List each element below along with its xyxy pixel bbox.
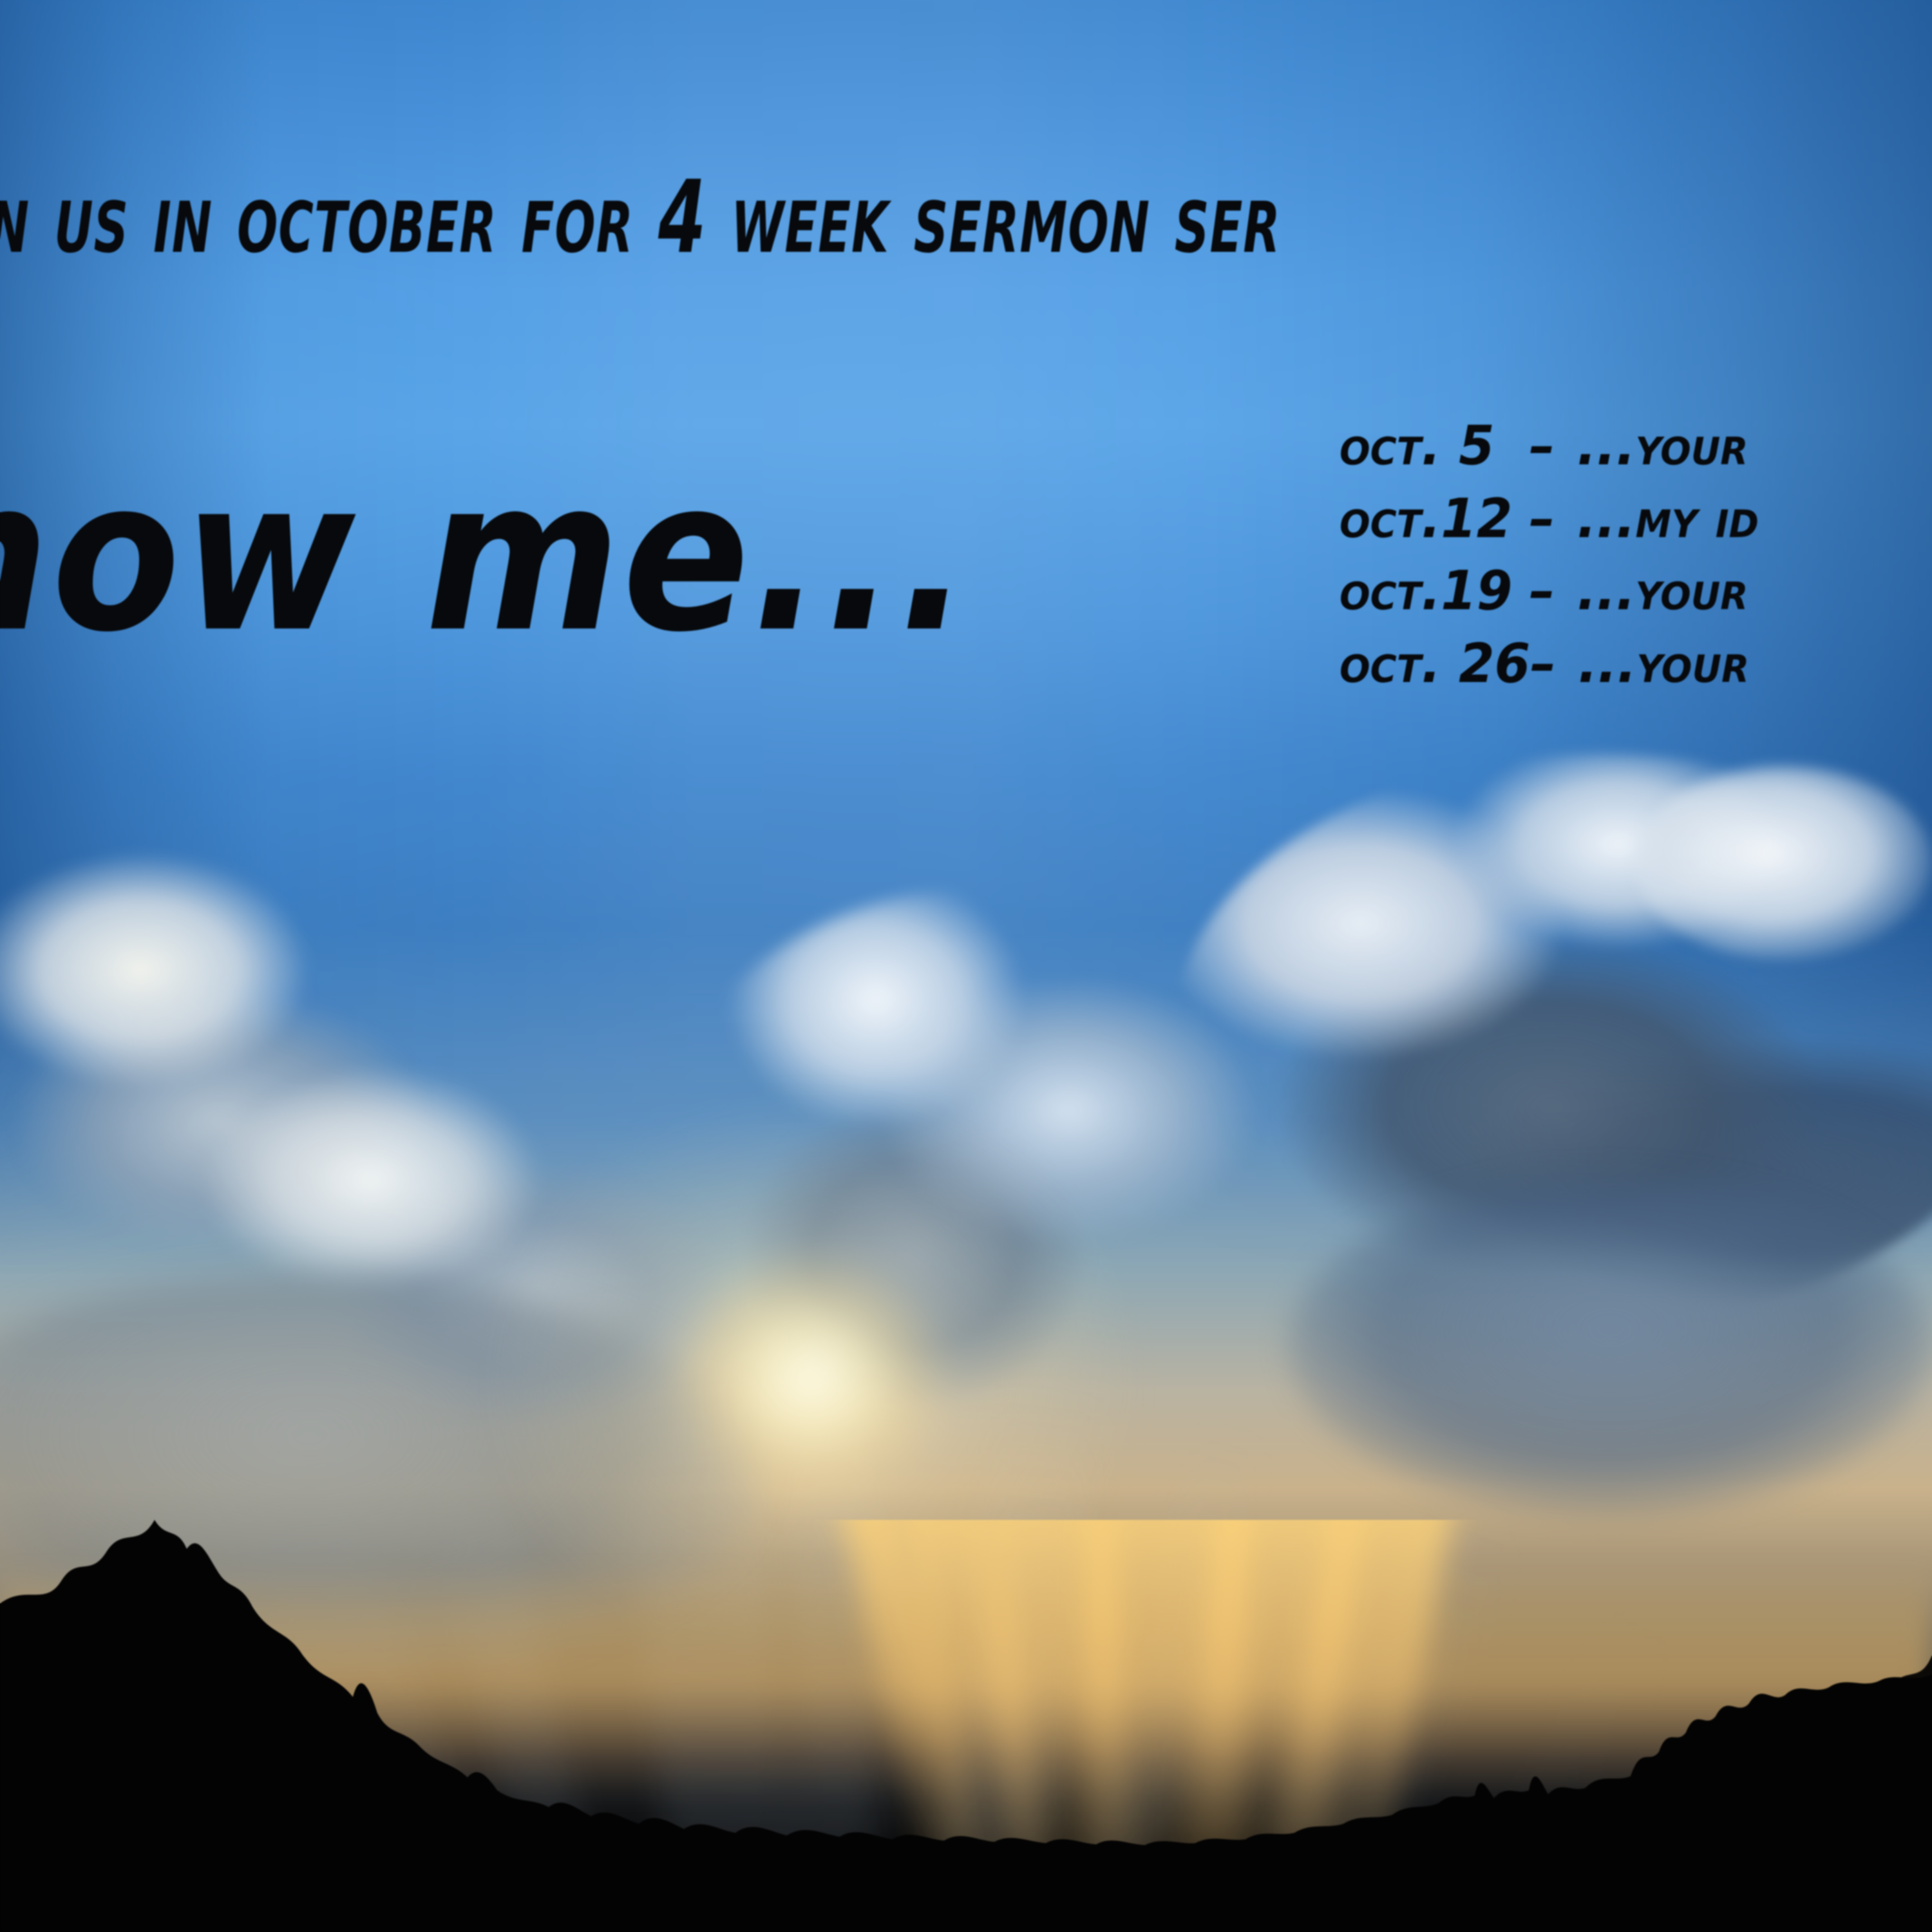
tree-horizon-silhouette [0, 1443, 1932, 1932]
schedule-row: Oct.19–...Your [1340, 554, 1932, 627]
schedule-row: Oct.12–...My Id [1340, 482, 1932, 555]
cloud-right-main [1172, 753, 1932, 1320]
schedule-title: ...Your [1578, 627, 1749, 700]
cloud-right-small [1636, 766, 1932, 960]
sermon-series-slide: oin us in October for 4 week sermon ser … [0, 0, 1932, 1932]
schedule-dash: – [1529, 482, 1577, 555]
schedule-date: Oct.19 [1340, 554, 1529, 627]
schedule-list: Oct. 5–...Your Oct.12–...My Id Oct.19–..… [1340, 410, 1932, 699]
schedule-date: Oct.12 [1340, 482, 1529, 555]
page-title: how me... [0, 453, 972, 662]
schedule-title: ...Your [1577, 554, 1748, 627]
schedule-title: ...Your [1577, 410, 1748, 482]
schedule-date: Oct. 5 [1340, 410, 1529, 482]
schedule-row: Oct. 26–...Your [1340, 627, 1932, 700]
headline-text: oin us in October for 4 week sermon ser [0, 167, 1853, 268]
schedule-dash: – [1529, 554, 1577, 627]
silhouette-shape [0, 1443, 1932, 1932]
schedule-title: ...My Id [1577, 482, 1759, 555]
schedule-row: Oct. 5–...Your [1340, 410, 1932, 482]
schedule-dash: – [1530, 627, 1578, 700]
schedule-dash: – [1529, 410, 1577, 482]
schedule-date: Oct. 26 [1340, 627, 1530, 700]
